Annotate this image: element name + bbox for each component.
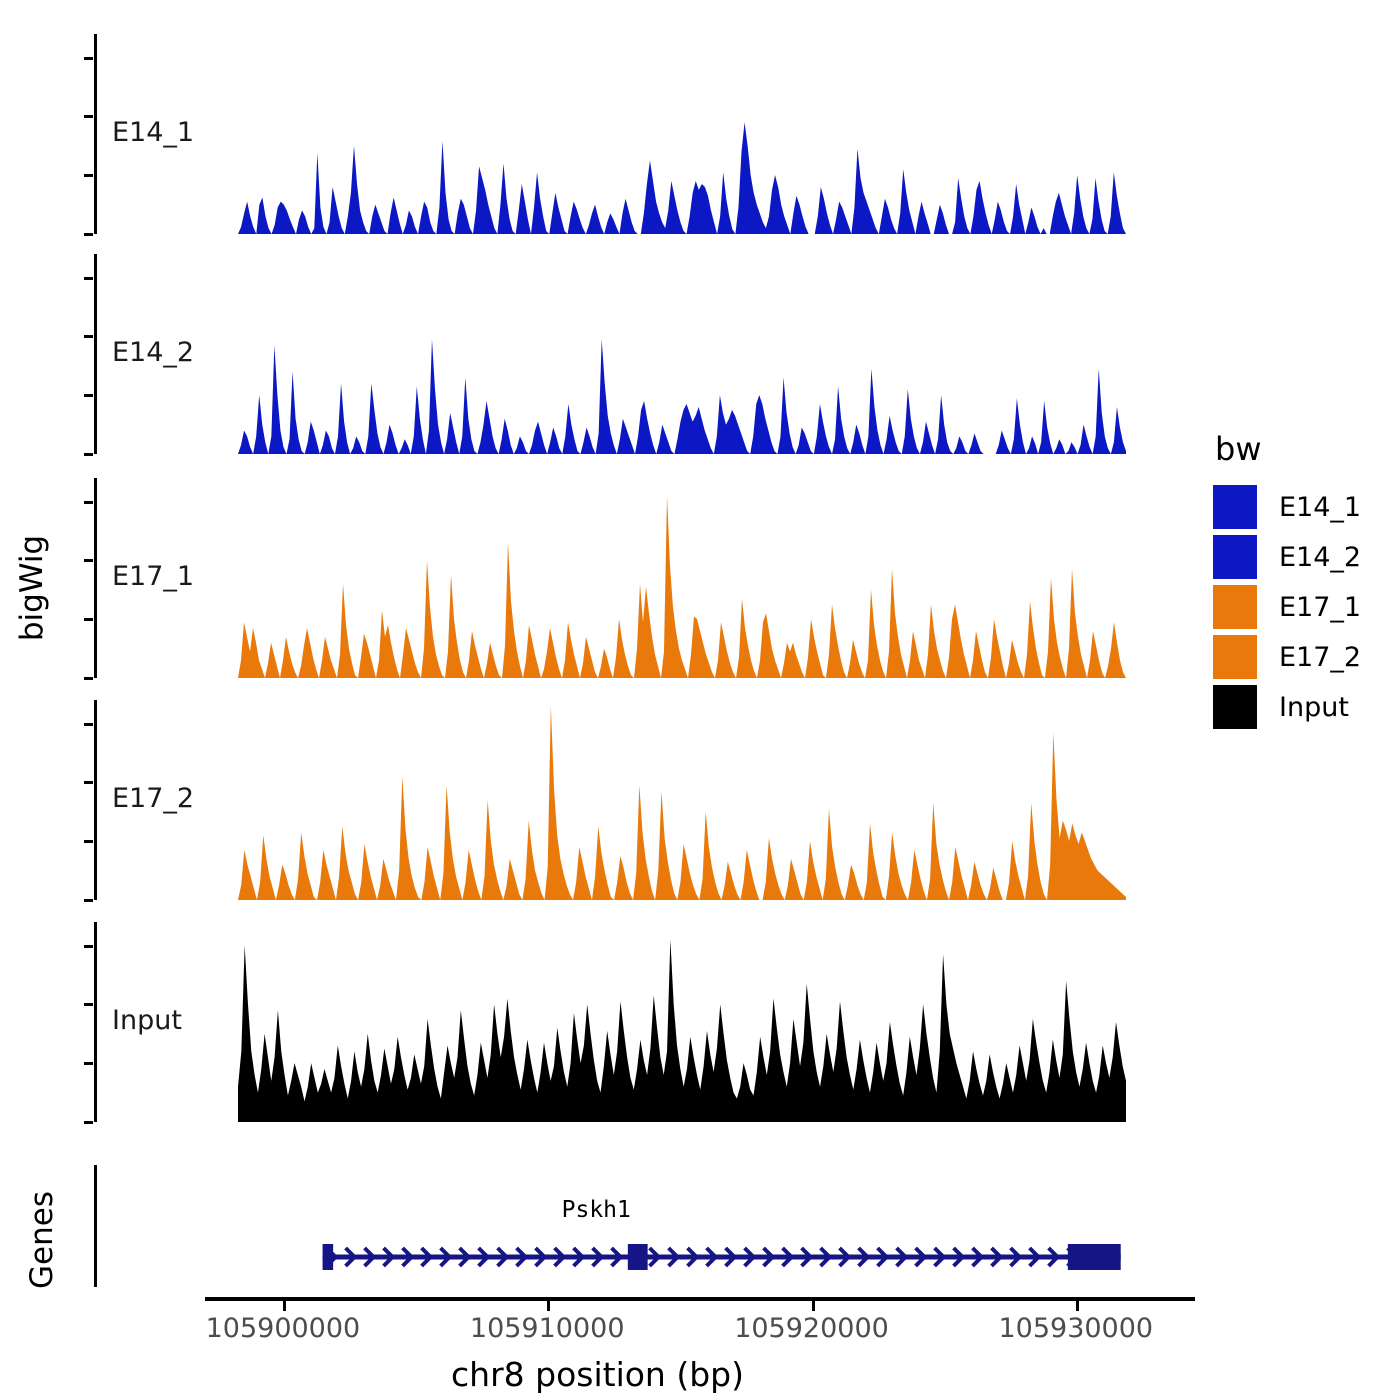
y-axis-label-genes: Genes — [24, 1180, 60, 1300]
gene-name-label: Pskh1 — [562, 1197, 631, 1223]
y-tick — [84, 559, 93, 562]
y-tick — [84, 57, 93, 60]
x-tick — [1076, 1301, 1079, 1311]
legend-swatch-icon — [1213, 535, 1257, 579]
x-tick-label: 105910000 — [470, 1313, 625, 1344]
legend-item-e14_2[interactable]: E14_2 — [1213, 532, 1393, 582]
track-area-e17_2[interactable] — [238, 700, 1126, 900]
track-area-e14_1[interactable] — [238, 34, 1126, 234]
y-tick — [84, 618, 93, 621]
legend-title: bw — [1215, 430, 1393, 468]
panel-axis-line — [94, 34, 97, 234]
legend-swatch-icon — [1213, 685, 1257, 729]
legend-item-e17_2[interactable]: E17_2 — [1213, 632, 1393, 682]
panel-axis-line — [94, 922, 97, 1122]
track-label-e17_2: E17_2 — [112, 783, 194, 814]
legend-items: E14_1E14_2E17_1E17_2Input — [1213, 482, 1393, 732]
legend-label: E17_1 — [1279, 592, 1361, 623]
y-tick — [84, 394, 93, 397]
y-tick — [84, 335, 93, 338]
legend-label: Input — [1279, 692, 1349, 723]
y-tick — [84, 723, 93, 726]
y-tick — [84, 501, 93, 504]
legend-label: E14_2 — [1279, 542, 1361, 573]
y-tick — [84, 781, 93, 784]
legend-label: E14_1 — [1279, 492, 1361, 523]
y-tick — [84, 899, 93, 902]
y-tick — [84, 1121, 93, 1124]
x-tick — [812, 1301, 815, 1311]
panel-axis-line — [94, 478, 97, 678]
y-tick — [84, 115, 93, 118]
x-tick — [547, 1301, 550, 1311]
panel-axis-line — [94, 700, 97, 900]
legend-item-e17_1[interactable]: E17_1 — [1213, 582, 1393, 632]
x-tick-label: 105920000 — [734, 1313, 889, 1344]
track-label-e17_1: E17_1 — [112, 561, 194, 592]
y-tick — [84, 945, 93, 948]
x-axis-line — [205, 1297, 1195, 1301]
legend: bw E14_1E14_2E17_1E17_2Input — [1213, 430, 1393, 732]
x-tick — [283, 1301, 286, 1311]
y-tick — [84, 277, 93, 280]
track-area-e14_2[interactable] — [238, 254, 1126, 454]
track-label-input: Input — [112, 1005, 182, 1036]
legend-item-e14_1[interactable]: E14_1 — [1213, 482, 1393, 532]
track-label-e14_2: E14_2 — [112, 337, 194, 368]
y-tick — [84, 233, 93, 236]
gene-model-area[interactable]: Pskh1 — [238, 1165, 1126, 1291]
legend-label: E17_2 — [1279, 642, 1361, 673]
y-tick — [84, 453, 93, 456]
legend-item-input[interactable]: Input — [1213, 682, 1393, 732]
y-tick — [84, 677, 93, 680]
y-tick — [84, 174, 93, 177]
track-area-input[interactable] — [238, 922, 1126, 1122]
y-tick — [84, 1062, 93, 1065]
track-area-e17_1[interactable] — [238, 478, 1126, 678]
legend-swatch-icon — [1213, 585, 1257, 629]
legend-swatch-icon — [1213, 485, 1257, 529]
y-axis-label-bigwig: bigWig — [14, 508, 50, 668]
legend-swatch-icon — [1213, 635, 1257, 679]
x-tick-label: 105930000 — [998, 1313, 1153, 1344]
track-label-e14_1: E14_1 — [112, 117, 194, 148]
x-tick-label: 105900000 — [206, 1313, 361, 1344]
y-tick — [84, 840, 93, 843]
gene-panel-axis — [94, 1165, 97, 1287]
y-tick — [84, 1003, 93, 1006]
x-axis-title: chr8 position (bp) — [0, 1355, 1195, 1394]
panel-axis-line — [94, 254, 97, 454]
